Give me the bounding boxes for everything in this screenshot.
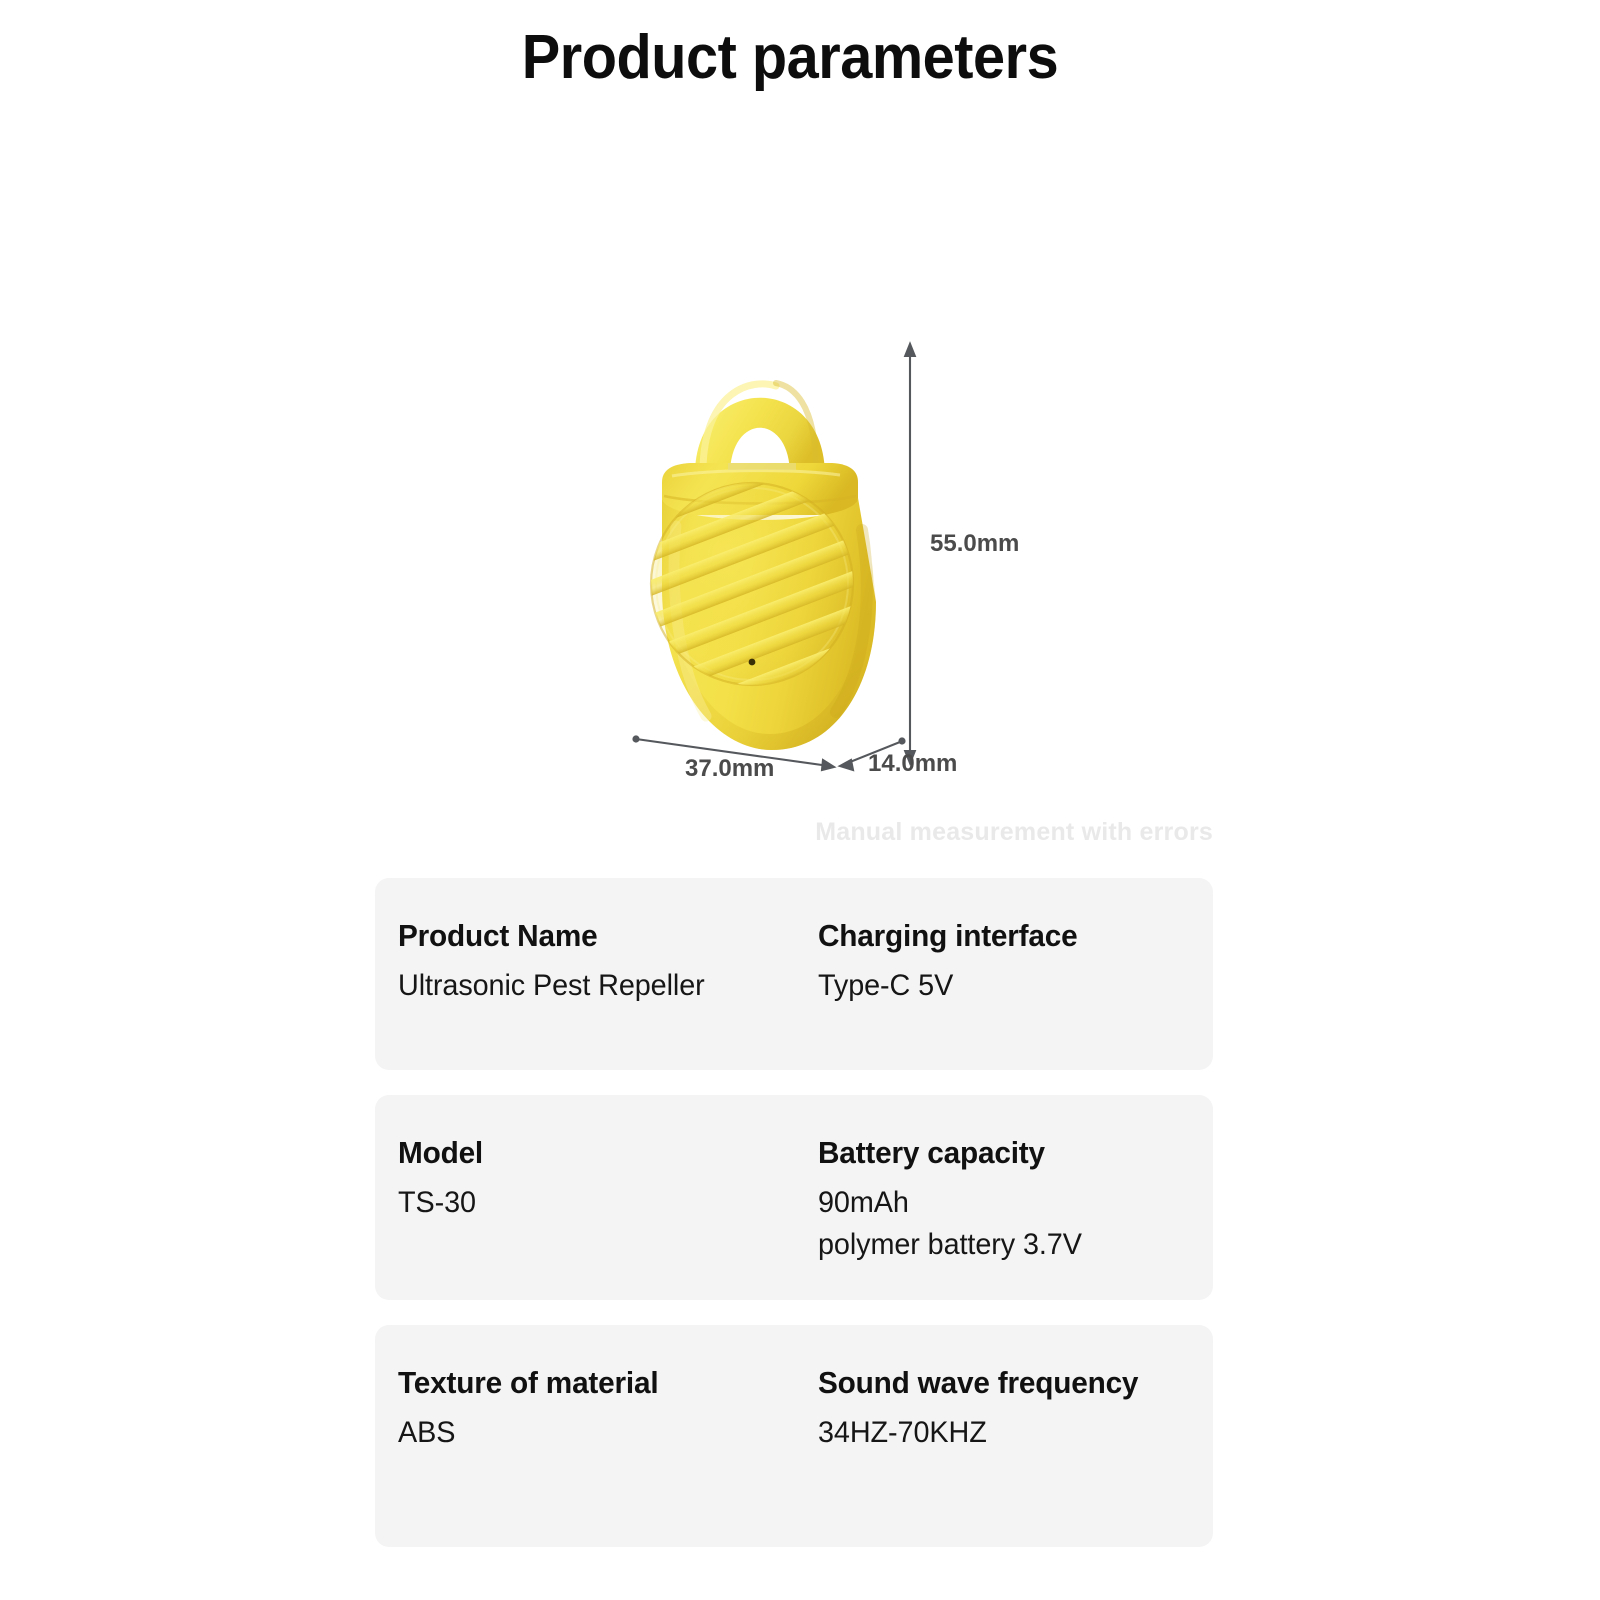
product-hero: 55.0mm 37.0mm 14.0mm Manual measurement … [0,0,1600,560]
dimension-label-width: 37.0mm [685,755,774,783]
dimension-line-height [905,344,915,763]
measurement-disclaimer: Manual measurement with errors [600,818,1213,847]
spec-value: Ultrasonic Pest Repeller [398,966,801,1006]
dimension-label-depth: 14.0mm [868,750,957,778]
spec-cell-left: Texture of material ABS [375,1363,818,1513]
spec-label: Model [398,1133,801,1173]
spec-card-list: Product Name Ultrasonic Pest Repeller Ch… [375,878,1213,1572]
dimension-label-height: 55.0mm [930,530,1019,558]
spec-cell-right: Charging interface Type-C 5V [818,916,1213,1036]
spec-card: Model TS-30 Battery capacity 90mAh polym… [375,1095,1213,1300]
product-illustration [600,330,1220,800]
product-figure: 55.0mm 37.0mm 14.0mm [600,330,1220,800]
spec-value: TS-30 [398,1183,801,1223]
spec-cell-left: Model TS-30 [375,1133,818,1266]
spec-card: Product Name Ultrasonic Pest Repeller Ch… [375,878,1213,1070]
spec-label: Charging interface [818,916,1197,956]
spec-value: 34HZ-70KHZ [818,1413,1197,1453]
spec-cell-right: Sound wave frequency 34HZ-70KHZ [818,1363,1213,1513]
spec-label: Sound wave frequency [818,1363,1197,1403]
spec-label: Product Name [398,916,801,956]
spec-cell-right: Battery capacity 90mAh polymer battery 3… [818,1133,1213,1266]
spec-value-secondary: polymer battery 3.7V [818,1225,1197,1265]
spec-label: Battery capacity [818,1133,1197,1173]
spec-cell-left: Product Name Ultrasonic Pest Repeller [375,916,818,1036]
spec-value: 90mAh [818,1183,1197,1223]
spec-value: ABS [398,1413,801,1453]
mic-pinhole [749,659,756,666]
spec-value: Type-C 5V [818,966,1197,1006]
spec-label: Texture of material [398,1363,801,1403]
spec-card: Texture of material ABS Sound wave frequ… [375,1325,1213,1547]
